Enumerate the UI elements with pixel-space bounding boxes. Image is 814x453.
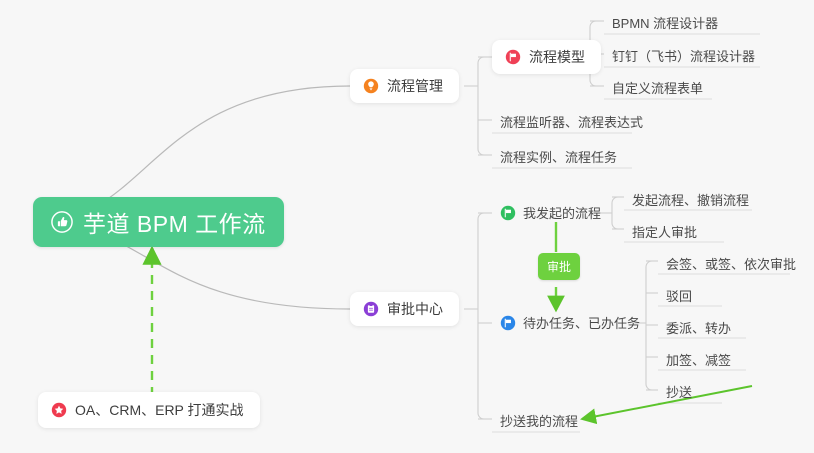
node-process-model-label: 流程模型 (529, 47, 585, 67)
leaf-reject[interactable]: 驳回 (658, 281, 700, 311)
leaf-listener-expression[interactable]: 流程监听器、流程表达式 (492, 107, 651, 137)
leaf-assignee-approval-label: 指定人审批 (632, 222, 697, 242)
leaf-add-remove-sign[interactable]: 加签、减签 (658, 345, 739, 375)
branch-approval-center[interactable]: 审批中心 (350, 292, 459, 326)
leaf-reject-label: 驳回 (666, 286, 692, 306)
leaf-instance-task[interactable]: 流程实例、流程任务 (492, 142, 625, 172)
flag-icon (500, 315, 516, 331)
approval-badge[interactable]: 审批 (538, 253, 580, 280)
leaf-listener-expression-label: 流程监听器、流程表达式 (500, 112, 643, 132)
star-icon (51, 402, 67, 418)
root-node[interactable]: 芋道 BPM 工作流 (33, 197, 284, 247)
branch-process-management[interactable]: 流程管理 (350, 69, 459, 103)
link-pm-bracket (478, 57, 484, 155)
leaf-add-remove-sign-label: 加签、减签 (666, 350, 731, 370)
leaf-bpmn-designer[interactable]: BPMN 流程设计器 (604, 8, 726, 38)
link-mysp-bracket (612, 197, 618, 229)
leaf-assignee-approval[interactable]: 指定人审批 (624, 217, 705, 247)
leaf-instance-task-label: 流程实例、流程任务 (500, 147, 617, 167)
branch-process-management-label: 流程管理 (387, 76, 443, 96)
clipboard-icon (363, 301, 379, 317)
node-todo-done-tasks[interactable]: 待办任务、已办任务 (492, 308, 648, 338)
link-ac-bracket (478, 213, 484, 419)
lightbulb-icon (363, 78, 379, 94)
leaf-dingtalk-feishu-designer-label: 钉钉（飞书）流程设计器 (612, 46, 755, 66)
leaf-cc-to-me-processes[interactable]: 抄送我的流程 (492, 406, 586, 436)
leaf-countersign-label: 会签、或签、依次审批 (666, 254, 796, 274)
leaf-cc-to-me-processes-label: 抄送我的流程 (500, 411, 578, 431)
root-label: 芋道 BPM 工作流 (83, 205, 266, 239)
flag-icon (505, 49, 521, 65)
leaf-bpmn-designer-label: BPMN 流程设计器 (612, 13, 718, 33)
branch-approval-center-label: 审批中心 (387, 299, 443, 319)
integration-note-label: OA、CRM、ERP 打通实战 (75, 400, 244, 420)
leaf-custom-process-form[interactable]: 自定义流程表单 (604, 73, 711, 103)
leaf-delegate-transfer[interactable]: 委派、转办 (658, 313, 739, 343)
leaf-countersign[interactable]: 会签、或签、依次审批 (658, 249, 804, 279)
node-my-started-processes[interactable]: 我发起的流程 (492, 198, 609, 228)
leaf-dingtalk-feishu-designer[interactable]: 钉钉（飞书）流程设计器 (604, 41, 763, 71)
leaf-start-cancel-process-label: 发起流程、撤销流程 (632, 190, 749, 210)
approval-badge-label: 审批 (547, 260, 571, 274)
integration-note[interactable]: OA、CRM、ERP 打通实战 (38, 392, 260, 428)
leaf-carbon-copy-label: 抄送 (666, 382, 692, 402)
node-my-started-processes-label: 我发起的流程 (523, 203, 601, 223)
leaf-carbon-copy[interactable]: 抄送 (658, 377, 700, 407)
node-process-model[interactable]: 流程模型 (492, 40, 601, 74)
leaf-delegate-transfer-label: 委派、转办 (666, 318, 731, 338)
leaf-custom-process-form-label: 自定义流程表单 (612, 78, 703, 98)
flag-icon (500, 205, 516, 221)
mindmap-canvas: 芋道 BPM 工作流 流程管理 流程模型 BPMN 流程设计器 钉钉（飞书）流程 (0, 0, 814, 453)
leaf-start-cancel-process[interactable]: 发起流程、撤销流程 (624, 185, 757, 215)
node-todo-done-tasks-label: 待办任务、已办任务 (523, 313, 640, 333)
thumbs-up-icon (51, 211, 73, 233)
